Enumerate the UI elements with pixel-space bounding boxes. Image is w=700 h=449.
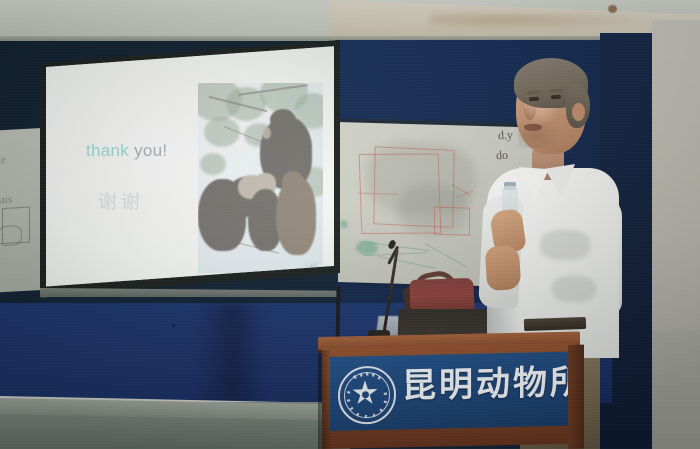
- whiteboard-handwriting-1: d.y: [498, 128, 514, 144]
- whiteboard-green-blob: [356, 241, 378, 256]
- speaker-hand-lower: [485, 245, 522, 291]
- ceiling-fixture-icon: [608, 5, 617, 13]
- wall-speck: [172, 324, 175, 327]
- ceiling-stain: [430, 10, 660, 30]
- slide-title-thank: thank: [86, 141, 129, 160]
- podium-side-right: [568, 345, 584, 449]
- whiteboard-left-shape-2: [0, 225, 22, 246]
- slide-photo: Cell: [198, 83, 323, 273]
- projection-screen-bottom-bar: [40, 288, 340, 297]
- whiteboard-green-blob: [340, 220, 348, 228]
- lecture-hall-photo: te ais d.y do thank you! 谢谢: [0, 0, 700, 449]
- speaker-eye-right: [551, 95, 561, 100]
- slide-title-english: thank you!: [86, 141, 167, 161]
- whiteboard-left-scrawl-2: ais: [0, 194, 12, 207]
- speaker-belt: [524, 317, 586, 331]
- projection-screen: thank you! 谢谢: [46, 45, 334, 289]
- whiteboard-handwriting-2: do: [496, 148, 509, 163]
- whiteboard-left: te ais: [0, 128, 42, 292]
- institute-seal-icon: [338, 366, 396, 425]
- seal-ring-text-icon: [340, 368, 394, 423]
- slide-title-you: you!: [134, 141, 167, 160]
- whiteboard-red-box-3: [434, 207, 470, 236]
- speaker-nose: [524, 100, 536, 120]
- slide-title-chinese: 谢谢: [98, 187, 144, 214]
- speaker-ear: [572, 103, 585, 121]
- podium-institute-name: 昆明动物所: [402, 365, 568, 403]
- speaker-chin-shadow: [518, 118, 560, 148]
- wall-shadow: [195, 303, 265, 403]
- wall-side-beige: [652, 20, 700, 449]
- podium-nameplate: 昆明动物所: [330, 352, 568, 431]
- whiteboard-green-hatch: [425, 243, 468, 268]
- whiteboard-left-scrawl-1: te: [0, 154, 6, 167]
